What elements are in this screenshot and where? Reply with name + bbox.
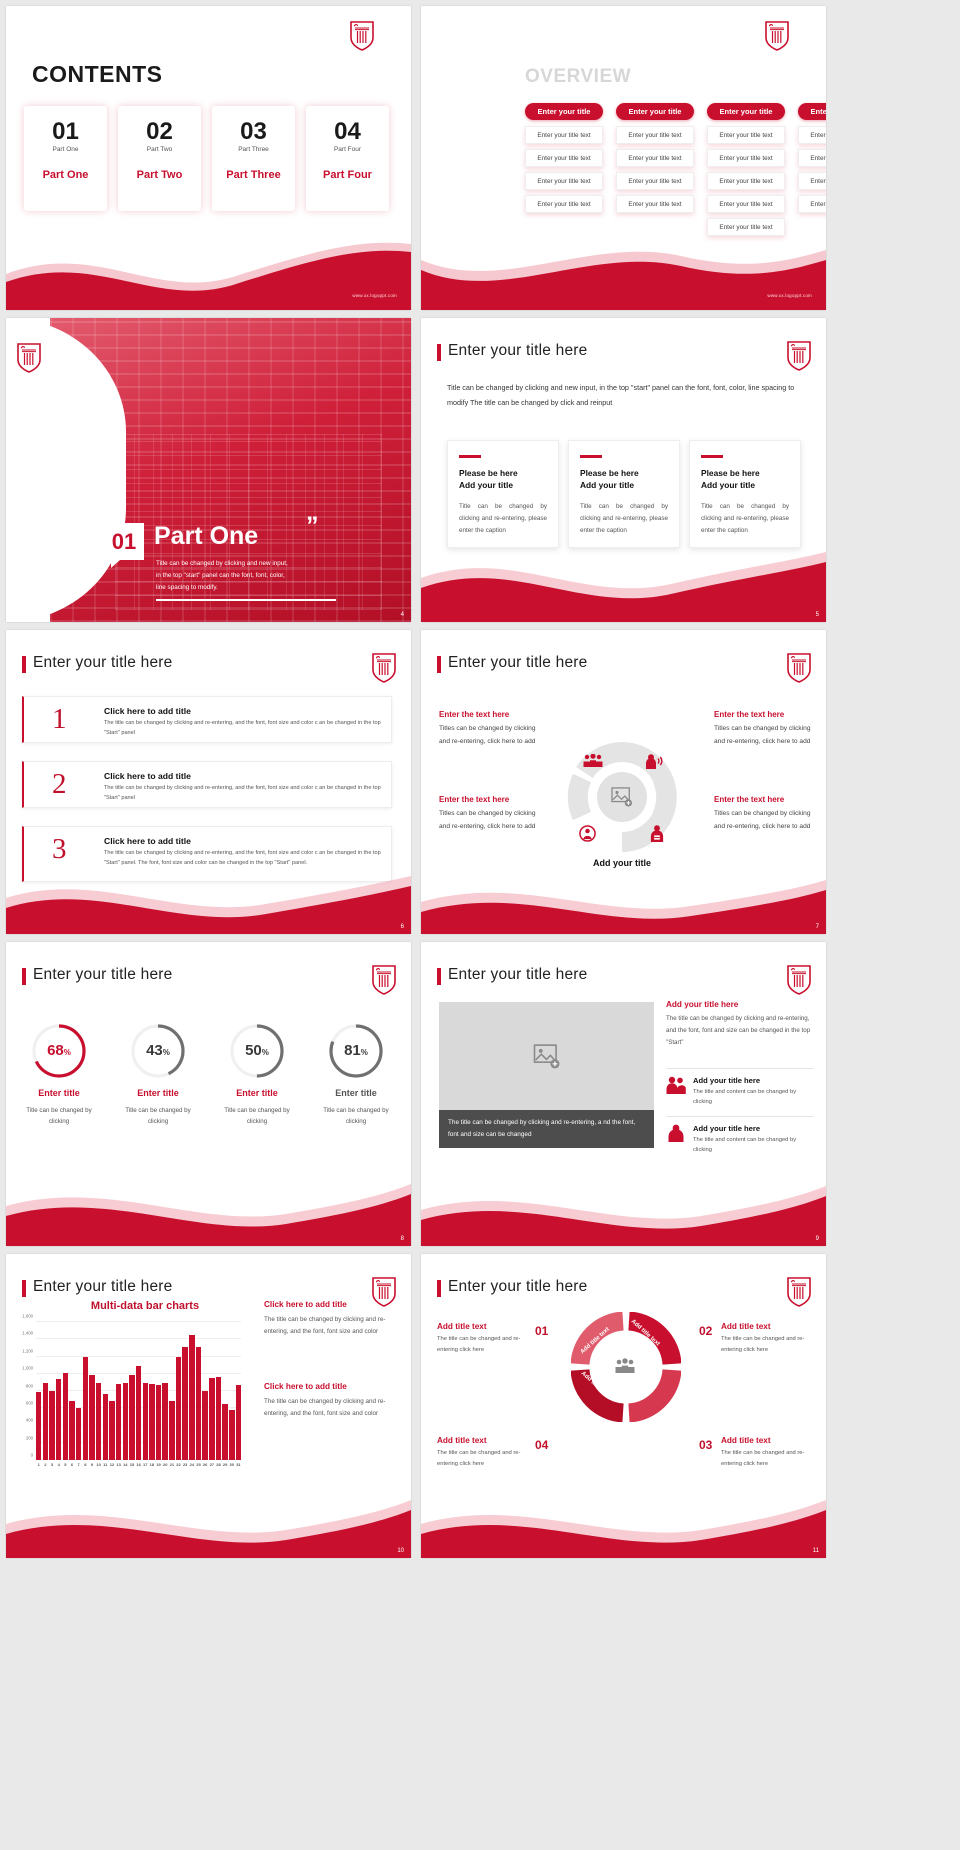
lead-body: The title can be changed by clicking and… xyxy=(666,1013,814,1048)
label-body: Titles can be changed by clicking and re… xyxy=(439,723,537,748)
chart-x-tick: 9 xyxy=(89,1462,94,1467)
slide-overview: OVERVIEW Enter your title Enter your tit… xyxy=(421,6,826,310)
cycle-number: 04 xyxy=(535,1438,548,1452)
university-shield-logo-icon xyxy=(349,20,375,52)
chart-y-tick: 1,200 xyxy=(22,1348,33,1353)
overview-cell[interactable]: Enter your title text xyxy=(798,172,826,190)
overview-cell[interactable]: Enter your title text xyxy=(707,172,785,190)
percent-unit: % xyxy=(64,1048,71,1057)
chart-bar xyxy=(83,1357,88,1461)
chart-bar xyxy=(182,1347,187,1460)
page-number: 7 xyxy=(816,924,819,930)
contents-card[interactable]: 04 Part Four Part Four xyxy=(306,106,389,211)
block-body: The title can be changed by clicking and… xyxy=(264,1396,401,1421)
page-title: Enter your title here xyxy=(448,654,587,672)
overview-column: Enter your title Enter your title text E… xyxy=(525,103,603,241)
block-body: The title can be changed and re-entering… xyxy=(721,1334,817,1355)
percent-value-group: 43% xyxy=(129,1022,187,1080)
overview-column: Enter your title Enter your title text E… xyxy=(707,103,785,241)
chart-x-tick: 19 xyxy=(156,1462,161,1467)
center-image-placeholder xyxy=(597,772,647,822)
red-wave-decoration xyxy=(6,854,411,934)
overview-cell[interactable]: Enter your title text xyxy=(616,195,694,213)
chart-bar xyxy=(202,1391,207,1460)
chart-bar xyxy=(156,1385,161,1460)
overview-columns: Enter your title Enter your title text E… xyxy=(525,103,826,241)
box-title-line2: Add your title xyxy=(580,480,634,490)
red-wave-decoration xyxy=(421,542,826,622)
chart-bar xyxy=(136,1366,141,1460)
chart-bar xyxy=(56,1379,61,1461)
chart-bar xyxy=(103,1394,108,1460)
chart-bar xyxy=(236,1385,241,1460)
page-number: 10 xyxy=(397,1548,404,1554)
column-title-pill[interactable]: Enter your title xyxy=(798,103,826,120)
chart-bar xyxy=(196,1347,201,1460)
stat-body: Title can be changed by clicking xyxy=(125,1105,191,1127)
page-title: Enter your title here xyxy=(448,342,587,360)
overview-cell[interactable]: Enter your title text xyxy=(525,195,603,213)
item-body: The title can be changed by clicking and… xyxy=(104,784,383,804)
cycle-number: 03 xyxy=(699,1438,712,1452)
chart-y-tick: 1,600 xyxy=(22,1314,33,1319)
chart-x-tick: 21 xyxy=(169,1462,174,1467)
percent-stat[interactable]: 50% Enter title Title can be changed by … xyxy=(224,1022,290,1127)
block-title: Add title text xyxy=(721,1322,817,1331)
card-number: 04 xyxy=(306,120,389,144)
column-title-pill[interactable]: Enter your title xyxy=(616,103,694,120)
overview-cell[interactable]: Enter your title text xyxy=(798,195,826,213)
cycle-text-block[interactable]: Add title text The title can be changed … xyxy=(437,1436,533,1469)
column-title-pill[interactable]: Enter your title xyxy=(525,103,603,120)
chart-bar xyxy=(229,1410,234,1460)
text-block[interactable]: Click here to add title The title can be… xyxy=(264,1300,401,1339)
cycle-text-block[interactable]: Add title text The title can be changed … xyxy=(721,1322,817,1355)
chart-bar xyxy=(123,1383,128,1460)
overview-cell[interactable]: Enter your title text xyxy=(707,126,785,144)
chart-x-tick: 24 xyxy=(189,1462,194,1467)
red-wave-decoration xyxy=(6,1478,411,1558)
lead-text-block[interactable]: Add your title here The title can be cha… xyxy=(666,1000,814,1048)
box-body: Title can be changed by clicking and re-… xyxy=(459,501,547,538)
footer-url: www.xx.logoppt.com xyxy=(767,293,812,298)
chart-bar xyxy=(222,1404,227,1460)
block-body: The title can be changed and re-entering… xyxy=(437,1448,533,1469)
item-number: 2 xyxy=(52,768,67,801)
title-accent-bar xyxy=(437,968,441,985)
red-wave-decoration xyxy=(421,1166,826,1246)
text-block[interactable]: Click here to add title The title can be… xyxy=(264,1382,401,1421)
stat-title: Enter title xyxy=(323,1088,389,1098)
title-accent-bar xyxy=(22,968,26,985)
list-item[interactable]: Add your title here The title and conten… xyxy=(666,1068,814,1108)
box-body: Title can be changed by clicking and re-… xyxy=(701,501,789,538)
page-number: 8 xyxy=(401,1236,404,1242)
image-caption: The title can be changed by clicking and… xyxy=(439,1110,654,1148)
chart-x-tick: 8 xyxy=(83,1462,88,1467)
stat-title: Enter title xyxy=(224,1088,290,1098)
card-name: Part Two xyxy=(118,169,201,181)
percent-value: 81 xyxy=(344,1042,361,1059)
chart-x-tick: 17 xyxy=(143,1462,148,1467)
chart-x-tick: 25 xyxy=(196,1462,201,1467)
cycle-number: 02 xyxy=(699,1324,712,1338)
card-number: 01 xyxy=(24,120,107,144)
page-number: 6 xyxy=(401,924,404,930)
percent-stat[interactable]: 43% Enter title Title can be changed by … xyxy=(125,1022,191,1127)
info-box[interactable]: Please be here Add your title Title can … xyxy=(447,440,559,548)
accent-dash xyxy=(580,455,602,458)
person-box-icon xyxy=(649,825,665,842)
chart-x-tick: 28 xyxy=(216,1462,221,1467)
image-placeholder[interactable] xyxy=(439,1002,654,1110)
percent-value-group: 68% xyxy=(30,1022,88,1080)
slide-contents: CONTENTS 01 Part One Part One 02 Part Tw… xyxy=(6,6,411,310)
university-shield-logo-icon xyxy=(16,342,42,374)
percent-stat[interactable]: 68% Enter title Title can be changed by … xyxy=(26,1022,92,1127)
slide-bar-chart: Enter your title here Multi-data bar cha… xyxy=(6,1254,411,1558)
section-number: 01 xyxy=(104,523,144,560)
block-title: Click here to add title xyxy=(264,1300,401,1309)
slide-three-boxes: Enter your title here Title can be chang… xyxy=(421,318,826,622)
overview-cell[interactable]: Enter your title text xyxy=(798,126,826,144)
box-title-line1: Please be here xyxy=(459,468,518,478)
cycle-text-block[interactable]: Add title text The title can be changed … xyxy=(721,1436,817,1469)
chart-x-tick: 23 xyxy=(182,1462,187,1467)
overview-cell[interactable]: Enter your title text xyxy=(525,126,603,144)
chart-x-tick: 4 xyxy=(56,1462,61,1467)
overview-cell[interactable]: Enter your title text xyxy=(525,149,603,167)
progress-ring: 43% xyxy=(129,1022,187,1080)
person-circle-icon xyxy=(579,825,596,842)
box-title-line2: Add your title xyxy=(459,480,513,490)
chart-x-tick: 29 xyxy=(222,1462,227,1467)
chart-x-tick: 26 xyxy=(202,1462,207,1467)
chart-bars xyxy=(36,1322,241,1460)
group-icon xyxy=(615,1358,635,1374)
card-name: Part Four xyxy=(306,169,389,181)
chart-x-axis: 1234567891011121314151617181920212223242… xyxy=(36,1462,241,1467)
chart-x-tick: 6 xyxy=(69,1462,74,1467)
red-wave-decoration xyxy=(421,854,826,934)
contents-card[interactable]: 03 Part Three Part Three xyxy=(212,106,295,211)
chart-bar xyxy=(76,1408,81,1460)
university-shield-logo-icon xyxy=(786,340,812,372)
item-body: The title and content can be changed by … xyxy=(693,1135,814,1156)
item-title: Click here to add title xyxy=(104,771,191,781)
chart-title: Multi-data bar charts xyxy=(34,1300,256,1312)
diagram-label[interactable]: Enter the text here Titles can be change… xyxy=(439,710,537,748)
page-title: CONTENTS xyxy=(32,61,163,88)
item-body: The title and content can be changed by … xyxy=(693,1087,814,1108)
info-box[interactable]: Please be here Add your title Title can … xyxy=(689,440,801,548)
chart-x-tick: 22 xyxy=(176,1462,181,1467)
slide-cycle-diagram: Enter your title here xyxy=(421,1254,826,1558)
page-title: Enter your title here xyxy=(33,1278,172,1296)
chart-x-tick: 31 xyxy=(236,1462,241,1467)
section-title: Part One xyxy=(154,522,258,551)
chart-x-tick: 5 xyxy=(63,1462,68,1467)
diagram-label[interactable]: Enter the text here Titles can be change… xyxy=(714,795,812,833)
overview-cell[interactable]: Enter your title text xyxy=(798,149,826,167)
lead-title: Add your title here xyxy=(666,1000,814,1009)
university-shield-logo-icon xyxy=(786,652,812,684)
chart-x-tick: 2 xyxy=(43,1462,48,1467)
percent-unit: % xyxy=(361,1048,368,1057)
chart-y-tick: 600 xyxy=(26,1400,33,1405)
overview-column: Enter your title Enter your title text E… xyxy=(616,103,694,241)
item-title: Add your title here xyxy=(693,1076,814,1085)
university-shield-logo-icon xyxy=(371,652,397,684)
chart-x-tick: 1 xyxy=(36,1462,41,1467)
chart-y-tick: 1,400 xyxy=(22,1331,33,1336)
accent-dash xyxy=(701,455,723,458)
progress-ring: 68% xyxy=(30,1022,88,1080)
block-title: Click here to add title xyxy=(264,1382,401,1391)
person-speaking-icon xyxy=(645,754,663,769)
chart-bar xyxy=(216,1377,221,1460)
chart-plot-area: 02004006008001,0001,2001,4001,600 xyxy=(36,1322,241,1460)
page-number: 11 xyxy=(813,1548,819,1554)
contents-card[interactable]: 01 Part One Part One xyxy=(24,106,107,211)
overview-cell[interactable]: Enter your title text xyxy=(616,126,694,144)
red-wave-decoration xyxy=(6,230,411,310)
chart-x-tick: 27 xyxy=(209,1462,214,1467)
contents-card-list: 01 Part One Part One 02 Part Two Part Tw… xyxy=(24,106,389,211)
block-body: The title can be changed and re-entering… xyxy=(721,1448,817,1469)
card-number: 02 xyxy=(118,120,201,144)
page-title: Enter your title here xyxy=(33,966,172,984)
overview-cell[interactable]: Enter your title text xyxy=(616,149,694,167)
image-placeholder-icon xyxy=(533,1044,561,1069)
red-wave-decoration xyxy=(421,1478,826,1558)
people-icon xyxy=(666,1076,686,1094)
item-title: Click here to add title xyxy=(104,836,191,846)
slide-image-and-list: Enter your title here The title can be c… xyxy=(421,942,826,1246)
card-name: Part One xyxy=(24,169,107,181)
chart-bar xyxy=(69,1401,74,1461)
footer-url: www.xx.logoppt.com xyxy=(352,293,397,298)
title-accent-bar xyxy=(22,656,26,673)
chart-x-tick: 3 xyxy=(49,1462,54,1467)
box-title-line1: Please be here xyxy=(701,468,760,478)
intro-paragraph: Title can be changed by clicking and new… xyxy=(447,380,802,410)
slide-part-one-cover: 01 Part One ” Title can be changed by cl… xyxy=(6,318,411,622)
percent-stat[interactable]: 81% Enter title Title can be changed by … xyxy=(323,1022,389,1127)
chart-bar xyxy=(209,1378,214,1460)
chart-x-tick: 18 xyxy=(149,1462,154,1467)
card-subtitle: Part Two xyxy=(118,146,201,153)
label-title: Enter the text here xyxy=(439,710,537,719)
chart-bar xyxy=(49,1391,54,1460)
percent-value-group: 50% xyxy=(228,1022,286,1080)
chart-x-tick: 14 xyxy=(123,1462,128,1467)
box-title-line1: Please be here xyxy=(580,468,639,478)
percent-value-group: 81% xyxy=(327,1022,385,1080)
slide-numbered-list: Enter your title here 1 Click here to ad… xyxy=(6,630,411,934)
stat-body: Title can be changed by clicking xyxy=(26,1105,92,1127)
stat-body: Title can be changed by clicking xyxy=(323,1105,389,1127)
page-title: Enter your title here xyxy=(448,1278,587,1296)
chart-x-tick: 13 xyxy=(116,1462,121,1467)
title-accent-bar xyxy=(437,1280,441,1297)
overview-cell[interactable]: Enter your title text xyxy=(525,172,603,190)
box-body: Title can be changed by clicking and re-… xyxy=(580,501,668,538)
chart-x-tick: 20 xyxy=(162,1462,167,1467)
chart-x-tick: 10 xyxy=(96,1462,101,1467)
item-title: Add your title here xyxy=(693,1124,814,1133)
list-item[interactable]: 1 Click here to add title The title can … xyxy=(22,696,392,743)
chart-y-tick: 400 xyxy=(26,1418,33,1423)
chart-y-tick: 1,000 xyxy=(22,1366,33,1371)
percent-unit: % xyxy=(262,1048,269,1057)
chart-x-tick: 12 xyxy=(109,1462,114,1467)
cycle-number: 01 xyxy=(535,1324,548,1338)
chart-bar xyxy=(129,1375,134,1460)
chart-bar xyxy=(96,1383,101,1460)
overview-column: Enter your title Enter your title text E… xyxy=(798,103,826,241)
quote-mark-icon: ” xyxy=(306,516,319,536)
segmented-donut xyxy=(567,742,677,852)
chart-x-tick: 16 xyxy=(136,1462,141,1467)
list-item[interactable]: 2 Click here to add title The title can … xyxy=(22,761,392,808)
chart-y-tick: 200 xyxy=(26,1435,33,1440)
diagram-label[interactable]: Enter the text here Titles can be change… xyxy=(439,795,537,833)
slide-circle-diagram: Enter your title here Enter the text her… xyxy=(421,630,826,934)
card-number: 03 xyxy=(212,120,295,144)
label-title: Enter the text here xyxy=(714,795,812,804)
box-title-line2: Add your title xyxy=(701,480,755,490)
title-accent-bar xyxy=(437,656,441,673)
list-item[interactable]: Add your title here The title and conten… xyxy=(666,1116,814,1156)
section-description: Title can be changed by clicking and new… xyxy=(156,558,288,594)
label-title: Enter the text here xyxy=(714,710,812,719)
card-subtitle: Part One xyxy=(24,146,107,153)
cycle-text-block[interactable]: Add title text The title can be changed … xyxy=(437,1322,533,1355)
info-box[interactable]: Please be here Add your title Title can … xyxy=(568,440,680,548)
overview-cell[interactable]: Enter your title text xyxy=(707,149,785,167)
label-body: Titles can be changed by clicking and re… xyxy=(714,808,812,833)
person-icon xyxy=(666,1124,686,1142)
block-body: The title can be changed and re-entering… xyxy=(437,1334,533,1355)
cycle-center xyxy=(602,1343,648,1389)
divider xyxy=(156,599,336,601)
item-number: 1 xyxy=(52,703,67,736)
card-subtitle: Part Four xyxy=(306,146,389,153)
slide-deck: CONTENTS 01 Part One Part One 02 Part Tw… xyxy=(0,0,960,1558)
label-title: Enter the text here xyxy=(439,795,537,804)
chart-x-tick: 7 xyxy=(76,1462,81,1467)
percent-value: 68 xyxy=(47,1042,64,1059)
overview-cell[interactable]: Enter your title text xyxy=(616,172,694,190)
stat-body: Title can be changed by clicking xyxy=(224,1105,290,1127)
chart-x-tick: 11 xyxy=(103,1462,108,1467)
chart-bar xyxy=(169,1401,174,1461)
card-subtitle: Part Three xyxy=(212,146,295,153)
university-shield-logo-icon xyxy=(371,964,397,996)
label-body: Titles can be changed by clicking and re… xyxy=(439,808,537,833)
progress-ring: 50% xyxy=(228,1022,286,1080)
page-number: 4 xyxy=(401,612,404,618)
chart-bar xyxy=(89,1375,94,1460)
chart-y-tick: 800 xyxy=(26,1383,33,1388)
percent-value: 43 xyxy=(146,1042,163,1059)
diagram-label[interactable]: Enter the text here Titles can be change… xyxy=(714,710,812,748)
university-shield-logo-icon xyxy=(786,964,812,996)
card-name: Part Three xyxy=(212,169,295,181)
red-wave-decoration xyxy=(6,1166,411,1246)
block-title: Add title text xyxy=(721,1436,817,1445)
chart-bar xyxy=(116,1384,121,1460)
stat-title: Enter title xyxy=(125,1088,191,1098)
contents-card[interactable]: 02 Part Two Part Two xyxy=(118,106,201,211)
item-title: Click here to add title xyxy=(104,706,191,716)
column-title-pill[interactable]: Enter your title xyxy=(707,103,785,120)
slide-percent-rings: Enter your title here 68% Enter title Ti… xyxy=(6,942,411,1246)
item-body: The title can be changed by clicking and… xyxy=(104,719,383,739)
page-title: OVERVIEW xyxy=(525,66,631,88)
title-accent-bar xyxy=(22,1280,26,1297)
page-number: 9 xyxy=(816,1236,819,1242)
university-shield-logo-icon xyxy=(786,1276,812,1308)
chart-bar xyxy=(143,1383,148,1460)
image-placeholder-icon xyxy=(611,787,633,807)
chart-x-tick: 15 xyxy=(129,1462,134,1467)
group-icon xyxy=(583,754,603,768)
progress-ring: 81% xyxy=(327,1022,385,1080)
block-title: Add title text xyxy=(437,1436,533,1445)
chart-bar xyxy=(109,1401,114,1461)
chart-bar xyxy=(36,1392,41,1460)
cycle-wheel[interactable]: Add title text Add title text Add title … xyxy=(571,1312,679,1420)
label-body: Titles can be changed by clicking and re… xyxy=(714,723,812,748)
chart-bar xyxy=(189,1335,194,1460)
overview-cell[interactable]: Enter your title text xyxy=(707,195,785,213)
chart-bar xyxy=(162,1383,167,1460)
page-title: Enter your title here xyxy=(448,966,587,984)
percent-unit: % xyxy=(163,1048,170,1057)
chart-bar xyxy=(63,1373,68,1460)
page-number: 5 xyxy=(816,612,819,618)
university-shield-logo-icon xyxy=(764,20,790,52)
chart-bar xyxy=(43,1383,48,1460)
chart-bar xyxy=(176,1357,181,1461)
block-body: The title can be changed by clicking and… xyxy=(264,1314,401,1339)
red-wave-decoration xyxy=(421,230,826,310)
percent-value: 50 xyxy=(245,1042,262,1059)
title-accent-bar xyxy=(437,344,441,361)
chart-y-tick: 0 xyxy=(31,1453,33,1458)
chart-x-tick: 30 xyxy=(229,1462,234,1467)
stat-title: Enter title xyxy=(26,1088,92,1098)
page-title: Enter your title here xyxy=(33,654,172,672)
accent-dash xyxy=(459,455,481,458)
block-title: Add title text xyxy=(437,1322,533,1331)
chart-bar xyxy=(149,1384,154,1460)
